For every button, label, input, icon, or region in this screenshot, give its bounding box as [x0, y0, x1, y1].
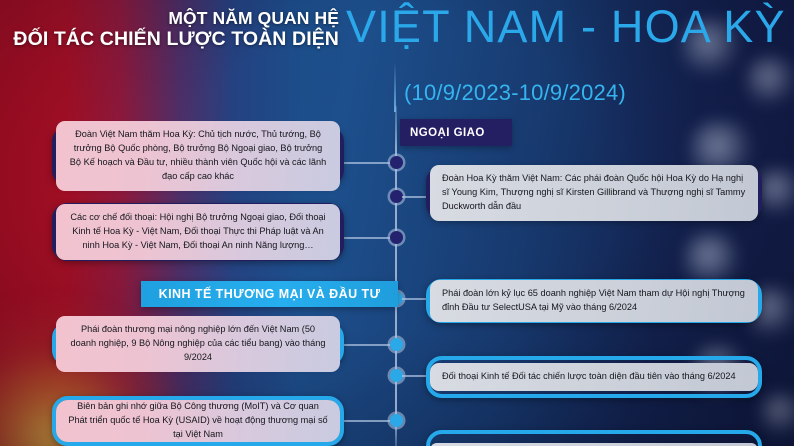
timeline-card-1-text: Đoàn Việt Nam thăm Hoa Kỳ: Chủ tịch nước…	[56, 121, 340, 191]
title-line-1: MỘT NĂM QUAN HỆ	[9, 8, 339, 28]
timeline-stub-7	[340, 420, 390, 422]
timeline-card-4[interactable]: Phái đoàn lớn kỷ lục 65 doanh nghiệp Việ…	[426, 279, 762, 323]
timeline-card-6[interactable]: Đối thoại Kinh tế Đối tác chiến lược toà…	[426, 356, 762, 398]
page-title-subtitle: MỘT NĂM QUAN HỆ ĐỐI TÁC CHIẾN LƯỢC TOÀN …	[9, 8, 339, 51]
timeline-node-2	[390, 190, 403, 203]
section-banner-kinh-te: KINH TẾ THƯƠNG MẠI VÀ ĐẦU TƯ	[141, 281, 398, 307]
timeline-card-4-text: Phái đoàn lớn kỷ lục 65 doanh nghiệp Việ…	[430, 280, 758, 322]
date-range: (10/9/2023-10/9/2024)	[404, 80, 626, 106]
header: MỘT NĂM QUAN HỆ ĐỐI TÁC CHIẾN LƯỢC TOÀN …	[0, 0, 794, 112]
timeline-node-3	[390, 231, 403, 244]
section-banner-ngoai-giao-label: NGOẠI GIAO	[410, 127, 485, 139]
timeline-card-5-text: Phái đoàn thương mại nông nghiệp lớn đến…	[56, 316, 340, 372]
timeline-node-5	[390, 338, 403, 351]
timeline-card-3[interactable]: Các cơ chế đối thoại: Hội nghị Bộ trưởng…	[52, 203, 344, 261]
timeline-card-2[interactable]: Đoàn Hoa Kỳ thăm Việt Nam: Các phái đoàn…	[426, 166, 762, 220]
title-line-2: ĐỐI TÁC CHIẾN LƯỢC TOÀN DIỆN	[9, 28, 339, 51]
timeline-card-3-text: Các cơ chế đối thoại: Hội nghị Bộ trưởng…	[56, 204, 340, 260]
timeline-card-8[interactable]	[426, 430, 762, 446]
timeline-card-2-text: Đoàn Hoa Kỳ thăm Việt Nam: Các phái đoàn…	[430, 165, 758, 221]
timeline-card-5[interactable]: Phái đoàn thương mại nông nghiệp lớn đến…	[52, 322, 344, 366]
title-divider	[394, 62, 396, 112]
timeline-card-6-text: Đối thoại Kinh tế Đối tác chiến lược toà…	[430, 363, 758, 391]
timeline-node-1	[390, 156, 403, 169]
timeline-node-7	[390, 414, 403, 427]
timeline-card-7-text: Biên bản ghi nhớ giữa Bộ Công thương (Mo…	[56, 396, 340, 446]
timeline-stub-5	[340, 344, 390, 346]
timeline-stub-3	[340, 237, 390, 239]
section-banner-ngoai-giao: NGOẠI GIAO	[400, 119, 512, 146]
timeline-card-7[interactable]: Biên bản ghi nhớ giữa Bộ Công thương (Mo…	[52, 396, 344, 446]
infographic-canvas: MỘT NĂM QUAN HỆ ĐỐI TÁC CHIẾN LƯỢC TOÀN …	[0, 0, 794, 446]
timeline-stub-1	[340, 162, 390, 164]
timeline-node-6	[390, 369, 403, 382]
page-title: VIỆT NAM - HOA KỲ	[346, 4, 794, 50]
section-banner-kinh-te-label: KINH TẾ THƯƠNG MẠI VÀ ĐẦU TƯ	[159, 287, 381, 301]
timeline-card-1[interactable]: Đoàn Việt Nam thăm Hoa Kỳ: Chủ tịch nước…	[52, 126, 344, 186]
